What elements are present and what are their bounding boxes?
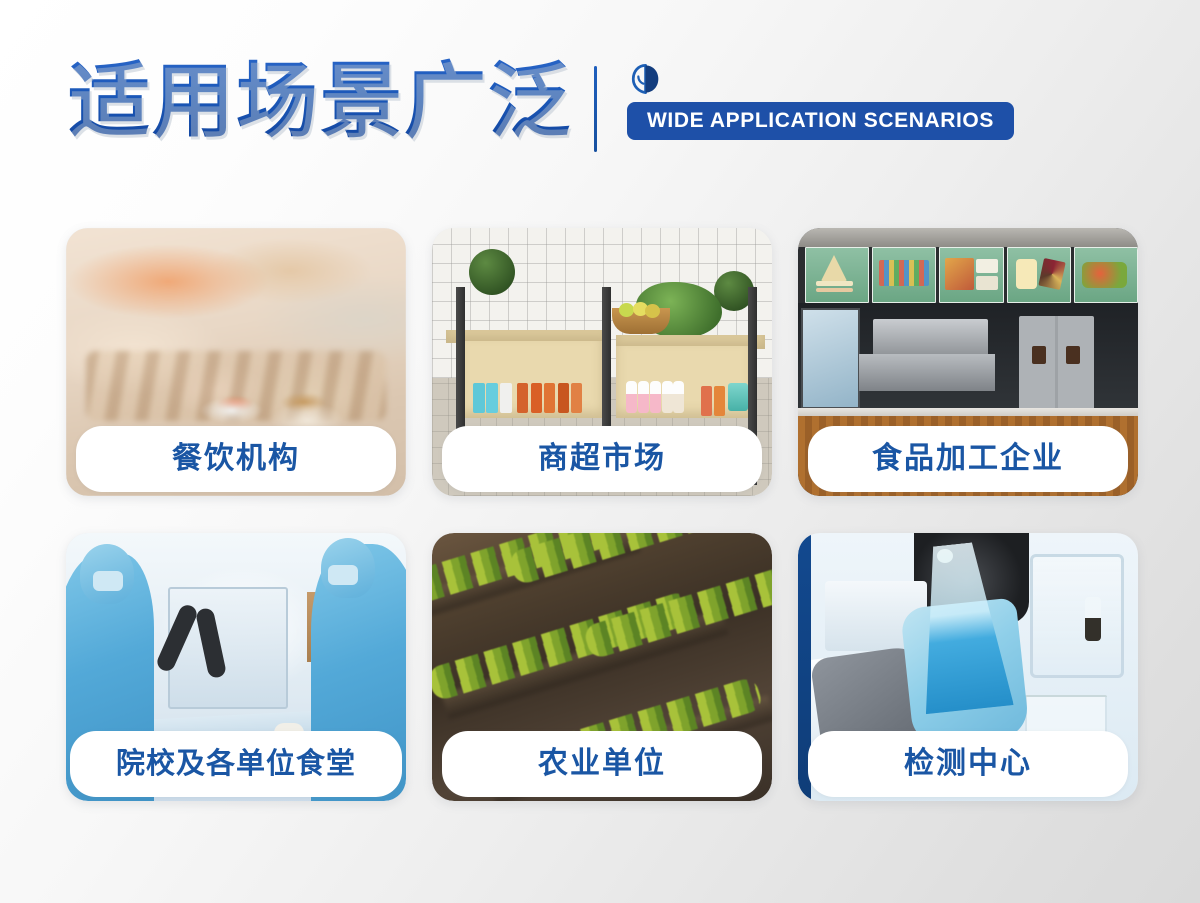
- scenario-label-text: 院校及各单位食堂: [116, 750, 356, 779]
- page-header: 适用场景广泛 WIDE APPLICATION SCENARIOS: [68, 52, 1014, 164]
- scenario-grid: 餐饮机构: [66, 228, 1138, 801]
- scenario-card-dining[interactable]: 餐饮机构: [66, 228, 406, 496]
- page-title: 适用场景广泛: [68, 52, 594, 152]
- scenario-card-testing-center[interactable]: 检测中心: [798, 533, 1138, 801]
- scenario-label-text: 餐饮机构: [172, 444, 300, 474]
- scenario-label-dining: 餐饮机构: [76, 426, 396, 492]
- header-divider: [594, 66, 597, 152]
- scenario-label-supermarket: 商超市场: [442, 426, 762, 492]
- scenario-label-testing-center: 检测中心: [808, 731, 1128, 797]
- header-badge-group: WIDE APPLICATION SCENARIOS: [627, 62, 1014, 140]
- scenario-label-canteen: 院校及各单位食堂: [70, 731, 402, 797]
- scenario-label-food-processing: 食品加工企业: [808, 426, 1128, 492]
- application-scenarios-page: 适用场景广泛 WIDE APPLICATION SCENARIOS 餐饮机构: [0, 0, 1200, 903]
- scenario-label-text: 农业单位: [538, 749, 666, 779]
- scenario-card-canteen[interactable]: 院校及各单位食堂: [66, 533, 406, 801]
- badge-wide-application-scenarios: WIDE APPLICATION SCENARIOS: [627, 102, 1014, 140]
- scenario-label-text: 食品加工企业: [872, 444, 1064, 474]
- scenario-label-text: 商超市场: [538, 444, 666, 474]
- scenario-label-text: 检测中心: [904, 749, 1032, 779]
- scenario-card-food-processing[interactable]: 食品加工企业: [798, 228, 1138, 496]
- scenario-card-supermarket[interactable]: 商超市场: [432, 228, 772, 496]
- scenario-label-agriculture: 农业单位: [442, 731, 762, 797]
- scenario-card-agriculture[interactable]: 农业单位: [432, 533, 772, 801]
- leaf-icon: [629, 62, 663, 96]
